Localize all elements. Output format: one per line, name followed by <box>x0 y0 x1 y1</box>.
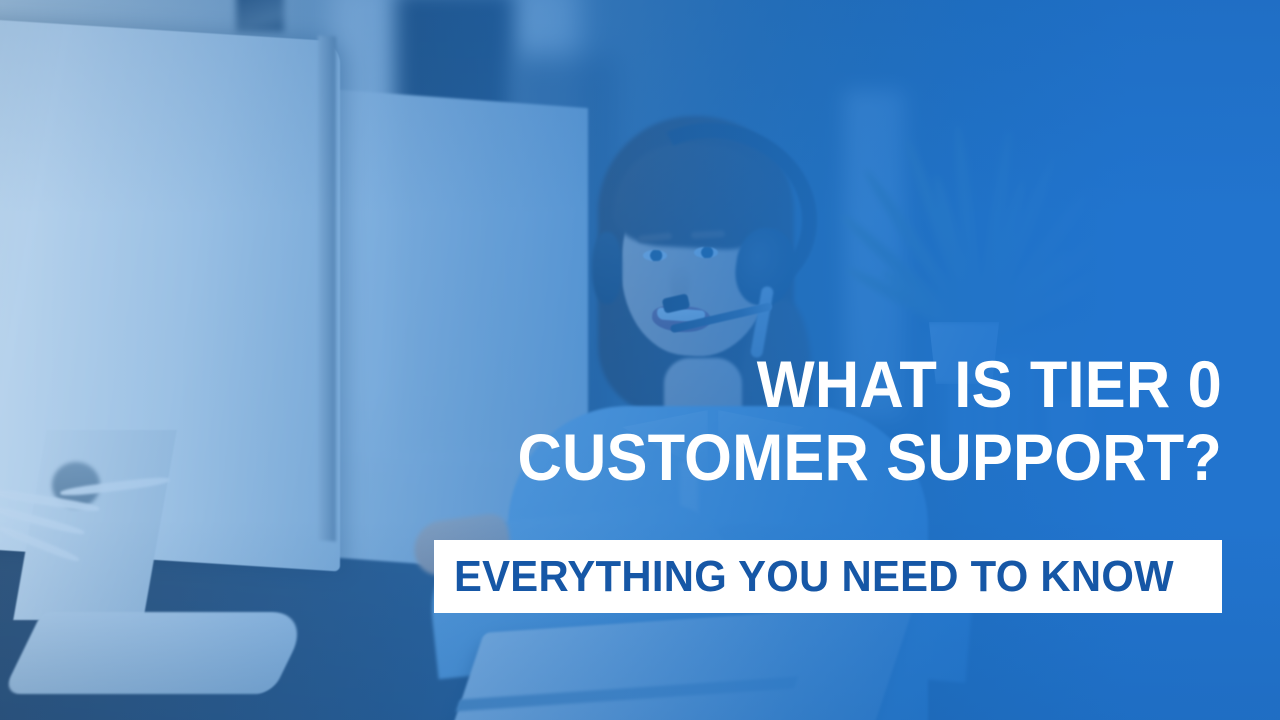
headline-block: What Is Tier 0 Customer Support? <box>0 348 1222 494</box>
headline-line-2: Customer Support? <box>86 421 1222 494</box>
headline-line-1: What Is Tier 0 <box>86 348 1222 421</box>
video-thumbnail: What Is Tier 0 Customer Support? Everyth… <box>0 0 1280 720</box>
subtitle-bar: Everything You Need To Know <box>434 540 1222 613</box>
subtitle-text: Everything You Need To Know <box>434 554 1174 600</box>
